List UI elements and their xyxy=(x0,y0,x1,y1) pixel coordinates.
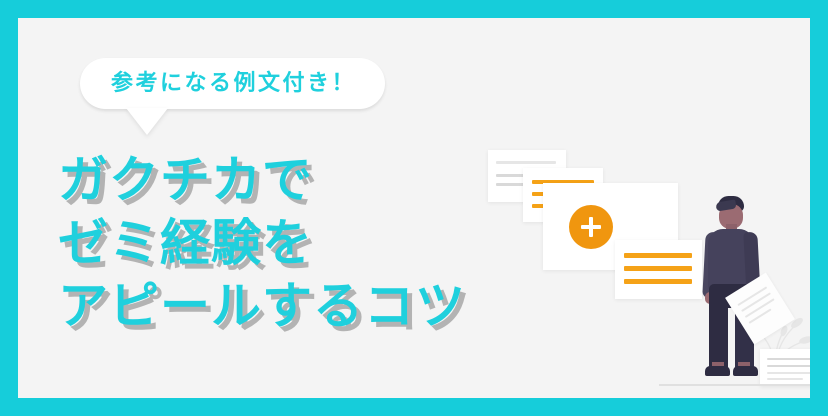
document-card-ground xyxy=(760,349,810,386)
card-line xyxy=(624,266,692,271)
banner-canvas: 参考になる例文付き！ ガクチカで ゼミ経験を アピールするコツ xyxy=(18,18,810,398)
card-line xyxy=(767,365,810,367)
card-line xyxy=(496,161,556,164)
headline-line-1: ガクチカで xyxy=(58,149,466,212)
person-leg-left xyxy=(709,302,728,370)
headline-line-3: アピールするコツ xyxy=(58,275,466,338)
speech-bubble-tail-icon xyxy=(126,108,168,135)
card-line xyxy=(624,279,692,284)
ground-line xyxy=(659,384,810,386)
card-line xyxy=(767,358,810,360)
person-shoe-right xyxy=(733,366,758,376)
card-line xyxy=(624,253,692,258)
card-line xyxy=(767,372,810,374)
banner: 参考になる例文付き！ ガクチカで ゼミ経験を アピールするコツ xyxy=(0,0,828,416)
badge-label: 参考になる例文付き！ xyxy=(109,73,356,95)
badge-bubble-body: 参考になる例文付き！ xyxy=(80,58,385,109)
headline-line-2: ゼミ経験を xyxy=(58,212,466,275)
plus-icon xyxy=(569,205,613,249)
person-shoe-left xyxy=(705,366,730,376)
document-card-lower xyxy=(615,240,702,299)
page-title: ガクチカで ゼミ経験を アピールするコツ xyxy=(58,149,466,338)
card-line xyxy=(767,378,803,380)
badge-speech-bubble: 参考になる例文付き！ xyxy=(80,58,390,133)
